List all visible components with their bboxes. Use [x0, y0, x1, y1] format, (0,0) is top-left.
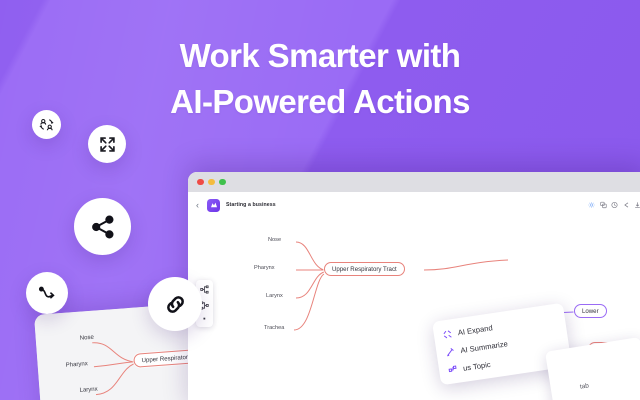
- page-title: Work Smarter with AI-Powered Actions: [0, 33, 640, 124]
- ai-expand-icon: [442, 329, 452, 339]
- collaboration-sync-icon[interactable]: [32, 110, 61, 139]
- download-icon[interactable]: [634, 202, 640, 209]
- window-titlebar: [188, 172, 640, 192]
- back-chevron-icon[interactable]: ‹: [194, 199, 201, 212]
- mindmap-leaf[interactable]: Pharynx: [254, 265, 275, 271]
- mindmap-leaf[interactable]: Trachea: [264, 325, 284, 331]
- app-logo-icon: [207, 199, 220, 212]
- ai-topic-icon: [448, 364, 458, 374]
- promo-graphic: Work Smarter with AI-Powered Actions Nos…: [0, 0, 640, 400]
- path-icon[interactable]: [26, 272, 68, 314]
- maximize-button[interactable]: [219, 179, 226, 186]
- theme-sun-icon[interactable]: [588, 202, 595, 209]
- minimize-button[interactable]: [208, 179, 215, 186]
- history-clock-icon[interactable]: [611, 202, 618, 209]
- headline-line-1: Work Smarter with: [0, 33, 640, 79]
- overlay-card-label: tab: [580, 382, 590, 390]
- header-toolbar: [588, 202, 640, 209]
- window-header: ‹ Starting a business: [188, 192, 640, 218]
- expand-icon[interactable]: [88, 125, 126, 163]
- close-button[interactable]: [197, 179, 204, 186]
- copy-icon[interactable]: [600, 202, 607, 209]
- menu-item-label: AI Expand: [457, 323, 493, 337]
- mindmap-node[interactable]: Upper Respiratory Tract: [324, 262, 405, 276]
- headline-line-2: AI-Powered Actions: [0, 79, 640, 125]
- menu-item-label: us Topic: [462, 359, 491, 372]
- mindmap-node[interactable]: Lower: [574, 304, 607, 318]
- document-title: Starting a business: [226, 202, 276, 208]
- share-icon[interactable]: [74, 198, 131, 255]
- link-icon[interactable]: [148, 277, 202, 331]
- mindmap-leaf[interactable]: Nose: [268, 237, 281, 243]
- mindmap-leaf[interactable]: Larynx: [266, 293, 283, 299]
- ai-summarize-icon: [445, 347, 455, 357]
- share-icon[interactable]: [623, 202, 630, 209]
